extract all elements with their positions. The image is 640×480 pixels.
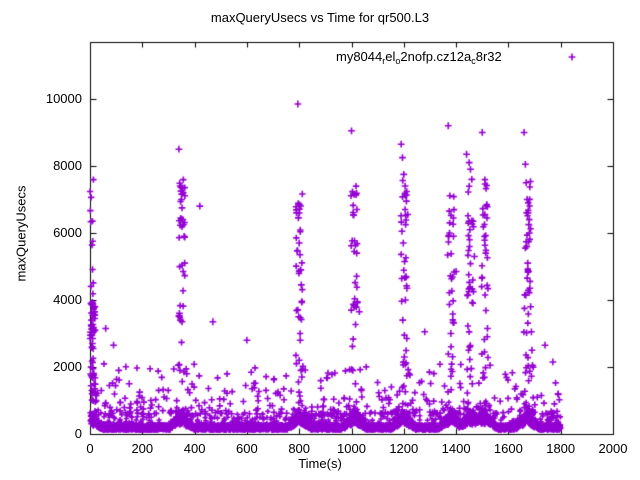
chart-plot-area xyxy=(0,0,640,480)
gnuplot-scatter-chart: maxQueryUsecs vs Time for qr500.L3 my804… xyxy=(0,0,640,480)
y-tick-label: 8000 xyxy=(22,158,82,173)
legend-label-part: el xyxy=(385,49,395,64)
x-tick-label: 1800 xyxy=(531,441,591,456)
legend-label-part: my8044 xyxy=(336,49,382,64)
x-tick-label: 800 xyxy=(269,441,329,456)
x-tick-label: 1000 xyxy=(322,441,382,456)
x-tick-label: 1200 xyxy=(374,441,434,456)
x-axis-label: Time(s) xyxy=(0,456,640,471)
chart-title: maxQueryUsecs vs Time for qr500.L3 xyxy=(0,10,640,25)
x-tick-label: 600 xyxy=(217,441,277,456)
y-tick-label: 4000 xyxy=(22,292,82,307)
x-tick-label: 0 xyxy=(60,441,120,456)
legend-label-part: o xyxy=(395,56,400,66)
x-tick-label: 1600 xyxy=(478,441,538,456)
legend-label-part: 2nofp.cz12a xyxy=(400,49,471,64)
y-tick-label: 6000 xyxy=(22,225,82,240)
legend-label-part: 8r32 xyxy=(476,49,502,64)
y-tick-label: 2000 xyxy=(22,359,82,374)
x-tick-label: 2000 xyxy=(583,441,640,456)
y-tick-label: 0 xyxy=(22,426,82,441)
legend-series-label: my8044relo2nofp.cz12ac8r32 xyxy=(336,49,502,64)
x-tick-label: 1400 xyxy=(426,441,486,456)
legend-label-part: c xyxy=(471,56,476,66)
x-tick-label: 200 xyxy=(112,441,172,456)
legend-label-part: r xyxy=(382,56,385,66)
y-tick-label: 10000 xyxy=(22,91,82,106)
x-tick-label: 400 xyxy=(165,441,225,456)
